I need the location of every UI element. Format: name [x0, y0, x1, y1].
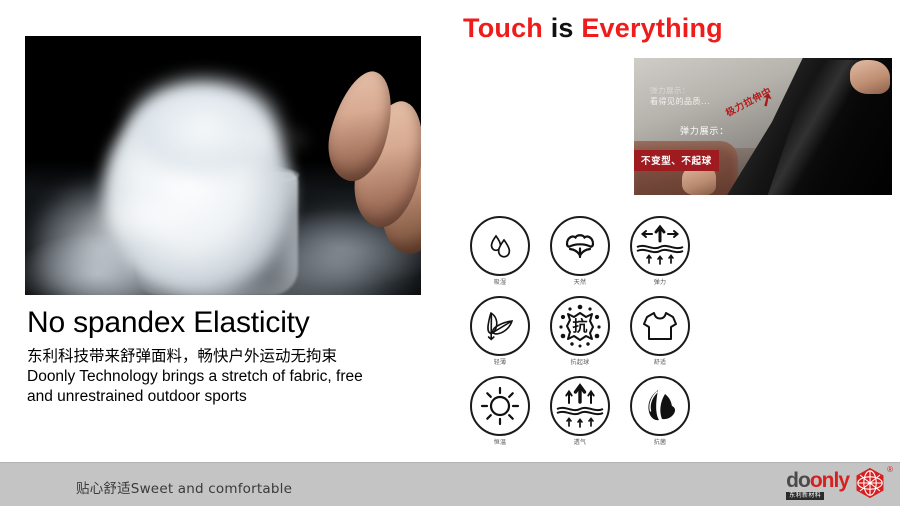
feature-label: 弹力	[654, 280, 667, 286]
feature-item-moisture[interactable]: 吸湿	[464, 216, 536, 286]
overlay-banner: 不变型、不起球	[634, 150, 719, 171]
feature-label: 舒适	[654, 360, 667, 366]
feature-item-natural[interactable]: 天然	[544, 216, 616, 286]
hand-top	[850, 60, 890, 94]
subtitle-english-line2: and unrestrained outdoor sports	[27, 387, 447, 407]
overlay-demo-text: 弹力展示：	[680, 124, 729, 137]
title-word-touch: Touch	[463, 13, 543, 43]
page-title: No spandex Elasticity	[27, 306, 447, 340]
cotton-boll-icon	[550, 216, 610, 276]
feature-item-antibacterial[interactable]: 抗菌	[624, 376, 696, 446]
feature-label: 天然	[574, 280, 587, 286]
logo-wordmark: doonly 东利新材料	[786, 470, 849, 500]
feature-label: 吸湿	[494, 280, 507, 286]
sun-icon	[470, 376, 530, 436]
feature-item-breathable[interactable]: 透气	[544, 376, 616, 446]
feature-label: 恒温	[494, 440, 507, 446]
overlay-quality-text: 看得见的品质...	[650, 96, 710, 107]
feature-label: 抗菌	[654, 440, 667, 446]
feature-item-comfort[interactable]: 舒适	[624, 296, 696, 366]
anti-pilling-icon: 抗	[550, 296, 610, 356]
stretch-arrows-icon	[630, 216, 690, 276]
breathable-arrows-icon	[550, 376, 610, 436]
footer-tagline: 贴心舒适Sweet and comfortable	[76, 477, 292, 497]
stretch-demo-photo: 弹力展示： 看得见的品质... 弹力展示： 极力拉伸中 ➚ 不变型、不起球	[634, 58, 892, 195]
hero-photo	[25, 36, 421, 295]
logo-word: doonly	[786, 470, 849, 491]
slide-title: Touch is Everything	[463, 13, 723, 44]
smoke-cloud-top	[129, 78, 279, 173]
feature-item-thermal[interactable]: 恒温	[464, 376, 536, 446]
title-word-everything: Everything	[581, 13, 723, 43]
anti-bacterial-icon	[630, 376, 690, 436]
feature-label: 透气	[574, 440, 587, 446]
title-word-is: is	[551, 13, 574, 43]
feature-item-lightweight[interactable]: 轻薄	[464, 296, 536, 366]
feature-item-anti-pilling[interactable]: 抗 抗起球	[544, 296, 616, 366]
subtitle-english-line1: Doonly Technology brings a stretch of fa…	[27, 367, 447, 387]
footer-bar: 贴心舒适Sweet and comfortable doonly 东利新材料 ®	[0, 462, 900, 506]
logo-word-part2: only	[810, 469, 849, 492]
logo-mark-wrapper: ®	[854, 467, 886, 504]
caption-block: No spandex Elasticity 东利科技带来舒弹面料，畅快户外运动无…	[27, 306, 447, 407]
logo-chinese-text: 东利新材料	[786, 492, 824, 500]
brand-logo[interactable]: doonly 东利新材料 ®	[786, 469, 886, 501]
feature-item-elasticity[interactable]: 弹力	[624, 216, 696, 286]
svg-text:抗: 抗	[572, 317, 587, 335]
feature-label: 轻薄	[494, 360, 507, 366]
feature-icon-grid: 吸湿 天然	[464, 216, 696, 446]
overlay-ghost-text: 弹力展示：	[650, 85, 690, 96]
logo-word-part1: do	[786, 469, 810, 492]
tshirt-icon	[630, 296, 690, 356]
water-droplets-icon	[470, 216, 530, 276]
hex-globe-icon	[854, 467, 886, 499]
feather-icon	[470, 296, 530, 356]
feature-label: 抗起球	[571, 360, 590, 366]
hand	[311, 70, 421, 250]
subtitle-chinese: 东利科技带来舒弹面料，畅快户外运动无拘束	[27, 346, 447, 367]
registered-mark: ®	[887, 465, 893, 474]
